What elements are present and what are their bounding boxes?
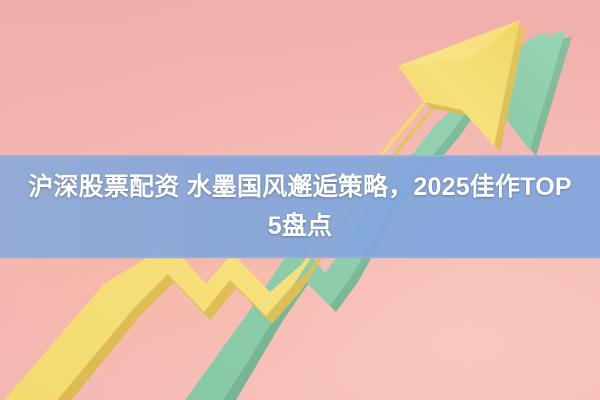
title-line-1: 沪深股票配资 水墨国风邂逅策略，2025佳作TOP (28, 168, 572, 207)
title-block: 沪深股票配资 水墨国风邂逅策略，2025佳作TOP 5盘点 (0, 155, 600, 258)
poster-canvas: 沪深股票配资 水墨国风邂逅策略，2025佳作TOP 5盘点 (0, 0, 600, 400)
title-line-2: 5盘点 (268, 207, 333, 246)
